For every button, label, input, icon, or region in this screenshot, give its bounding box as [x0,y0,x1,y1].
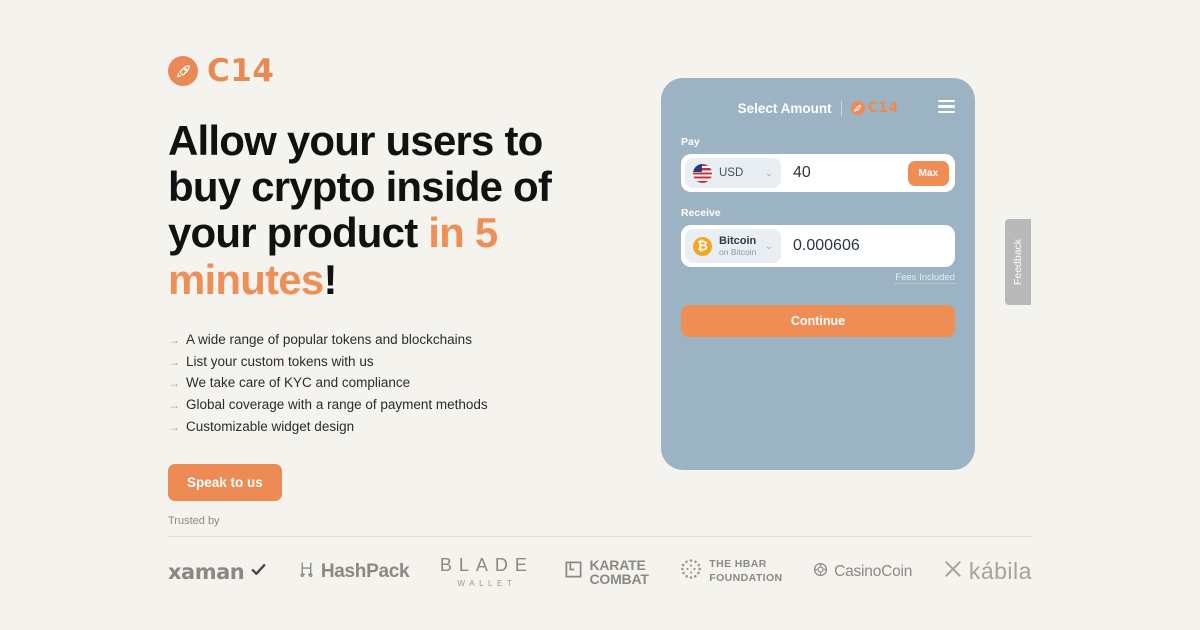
hamburger-menu-icon[interactable] [938,100,955,116]
hero-section: C14 Allow your users to buy crypto insid… [168,50,638,501]
logo-hashpack-label: HashPack [321,561,409,583]
logo-karate-line1: KARATE [589,558,648,572]
logo-kabila-label: kábila [969,558,1032,585]
list-item: → Global coverage with a range of paymen… [168,394,638,416]
logo-karate-line2: COMBAT [589,572,648,586]
header-divider [841,101,842,116]
widget-brand-logo: C14 [851,100,899,116]
list-item-label: A wide range of popular tokens and block… [186,329,472,351]
receive-asset-name: Bitcoin [719,235,756,248]
fees-included-note[interactable]: Fees Included [895,272,955,284]
logo-casinocoin[interactable]: CasinoCoin [813,562,912,582]
continue-button[interactable]: Continue [681,305,955,337]
chevron-down-icon: ⌄ [765,168,773,179]
logo-casinocoin-label: CasinoCoin [834,563,912,581]
receive-asset-selector[interactable]: ₿ Bitcoin on Bitcoin ⌄ [685,229,781,263]
casinocoin-icon [813,562,828,582]
receive-label: Receive [681,207,955,219]
buy-crypto-widget: Select Amount C14 Pay U [661,78,975,470]
list-item-label: We take care of KYC and compliance [186,372,410,394]
list-item-label: Customizable widget design [186,416,354,438]
logo-hbar-line1: THE HBAR [709,558,782,571]
logo-hashpack[interactable]: HashPack [298,561,409,583]
feedback-label: Feedback [1012,239,1024,285]
arrow-icon: → [168,353,180,372]
max-button[interactable]: Max [908,161,949,186]
receive-asset-network: on Bitcoin [719,247,756,257]
pay-label: Pay [681,136,955,148]
headline-part2: ! [323,256,336,303]
receive-amount-input[interactable]: 0.000606 [787,237,951,255]
widget-title: Select Amount [738,101,832,116]
widget-brand-name: C14 [868,100,899,116]
hbar-dots-icon [679,557,703,586]
kabila-icon [943,559,963,584]
arrow-icon: → [168,331,180,350]
receive-asset-text: Bitcoin on Bitcoin [719,235,756,258]
list-item: → Customizable widget design [168,416,638,438]
widget-header: Select Amount C14 [681,95,955,121]
trusted-by-section: Trusted by xaman HashPack [168,515,1032,588]
arrow-icon: → [168,418,180,437]
list-item: → We take care of KYC and compliance [168,372,638,394]
logo-blade-wallet[interactable]: BLADE WALLET [440,555,534,588]
pay-currency-selector[interactable]: USD ⌄ [685,158,781,188]
page-title: Allow your users to buy crypto inside of… [168,118,568,303]
feedback-tab[interactable]: Feedback [1005,219,1031,305]
chevron-down-icon: ⌄ [765,241,773,252]
karate-icon [564,560,583,584]
list-item-label: Global coverage with a range of payment … [186,394,488,416]
logo-xaman-label: xaman [168,560,244,584]
list-item-label: List your custom tokens with us [186,351,374,373]
rocket-icon [851,101,865,115]
pay-amount-input[interactable]: 40 [787,164,902,182]
logo-hbar-line2: FOUNDATION [709,572,782,585]
landing-page: C14 Allow your users to buy crypto insid… [0,0,1200,630]
pay-currency-label: USD [719,167,743,179]
check-icon [250,561,267,583]
rocket-icon [168,56,198,86]
speak-to-us-button[interactable]: Speak to us [168,464,282,501]
feature-list: → A wide range of popular tokens and blo… [168,329,638,438]
list-item: → List your custom tokens with us [168,351,638,373]
divider [168,536,1032,537]
logo-xaman[interactable]: xaman [168,560,267,584]
logo-blade-sublabel: WALLET [440,579,534,588]
us-flag-icon [693,164,712,183]
trusted-by-label: Trusted by [168,515,1032,527]
logo-karate-combat[interactable]: KARATE COMBAT [564,558,648,586]
partner-logos: xaman HashPack BLADE WALLET [168,555,1032,588]
brand-name: C14 [207,56,274,87]
arrow-icon: → [168,374,180,393]
receive-row: ₿ Bitcoin on Bitcoin ⌄ 0.000606 [681,225,955,267]
brand-logo[interactable]: C14 [168,50,638,92]
hashpack-icon [298,561,315,583]
arrow-icon: → [168,396,180,415]
bitcoin-icon: ₿ [693,237,712,256]
logo-hbar-foundation[interactable]: THE HBAR FOUNDATION [679,557,782,586]
logo-blade-label: BLADE [440,555,534,576]
list-item: → A wide range of popular tokens and blo… [168,329,638,351]
logo-kabila[interactable]: kábila [943,558,1032,585]
pay-row: USD ⌄ 40 Max [681,154,955,192]
